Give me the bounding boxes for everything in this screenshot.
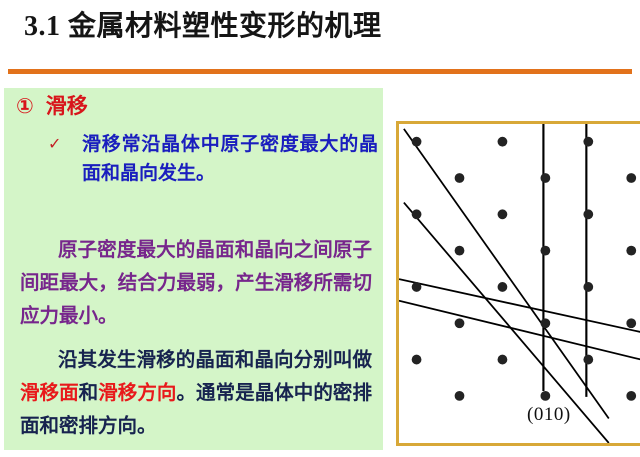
atom-dot — [626, 173, 636, 183]
atom-dot — [412, 137, 422, 147]
lattice-diagram-panel: (010) — [396, 121, 640, 446]
atom-dot — [540, 318, 550, 328]
atom-dot — [626, 318, 636, 328]
atom-dot — [583, 282, 593, 292]
content-panel: ① 滑移 ✓ 滑移常沿晶体中原子密度最大的晶面和晶向发生。 原子密度最大的晶面和… — [4, 88, 383, 450]
atom-dot — [412, 282, 422, 292]
atom-dot — [455, 391, 465, 401]
title-divider — [8, 69, 632, 74]
atom-dot — [412, 355, 422, 365]
bullet-item: ✓ 滑移常沿晶体中原子密度最大的晶面和晶向发生。 — [48, 130, 378, 188]
bullet-item-label: 滑移常沿晶体中原子密度最大的晶面和晶向发生。 — [82, 130, 378, 188]
paragraph-text-run: 沿其发生滑移的晶面和晶向分别叫做 — [58, 350, 372, 371]
section-heading: ① 滑移 — [16, 94, 88, 118]
atom-dot — [455, 173, 465, 183]
slip-trace-line — [404, 129, 609, 419]
slip-trace-line — [399, 301, 640, 360]
paragraph-atom-density: 原子密度最大的晶面和晶向之间原子间距最大，结合力最弱，产生滑移所需切应力最小。 — [20, 234, 372, 333]
plane-index-label: (010) — [527, 404, 571, 426]
atom-dot — [626, 246, 636, 256]
slip-trace-line — [399, 279, 640, 332]
paragraph-slip-plane: 沿其发生滑移的晶面和晶向分别叫做滑移面和滑移方向。通常是晶体中的密排面和密排方向… — [20, 344, 372, 443]
paragraph-text-run: 和 — [79, 383, 99, 404]
atom-dot — [540, 173, 550, 183]
atom-dot — [626, 391, 636, 401]
atom-dot — [540, 246, 550, 256]
highlighted-term: 滑移方向 — [98, 383, 176, 404]
atom-dot — [498, 282, 508, 292]
lattice-diagram-svg — [399, 124, 640, 443]
atom-dot — [455, 318, 465, 328]
atom-dot — [540, 391, 550, 401]
highlighted-term: 滑移面 — [20, 383, 79, 404]
section-heading-label: 滑移 — [46, 94, 88, 118]
atom-dot — [498, 355, 508, 365]
circled-number-icon: ① — [16, 94, 34, 118]
atom-dot — [455, 246, 465, 256]
atom-dot — [498, 209, 508, 219]
check-icon: ✓ — [48, 130, 82, 157]
atom-dot — [583, 209, 593, 219]
lattice-atoms — [412, 137, 640, 401]
slip-plane-lines — [399, 124, 640, 443]
atom-dot — [583, 355, 593, 365]
atom-dot — [498, 137, 508, 147]
atom-dot — [412, 209, 422, 219]
atom-dot — [583, 137, 593, 147]
page-title: 3.1 金属材料塑性变形的机理 — [24, 8, 382, 46]
slip-trace-line — [404, 203, 609, 443]
